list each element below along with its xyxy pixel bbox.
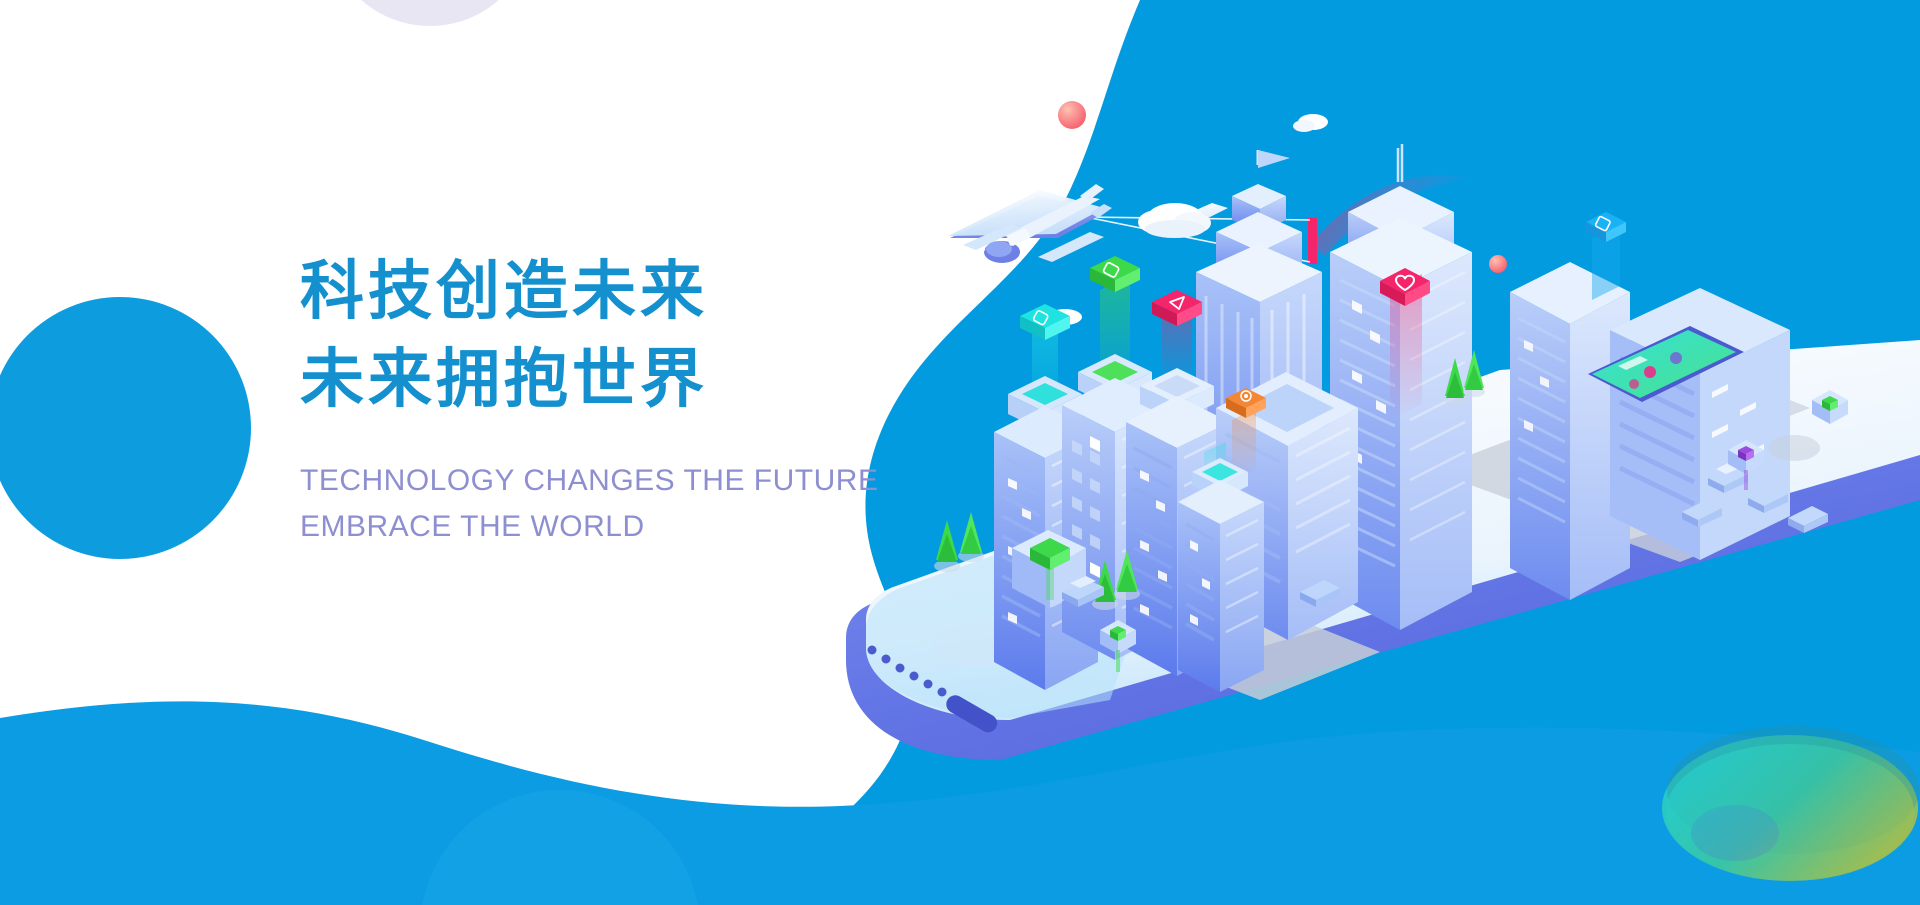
app-icon-phone-blue — [1586, 212, 1626, 300]
balloon-red-icon — [1058, 101, 1086, 129]
headline-line-2: 未来拥抱世界 — [300, 340, 920, 418]
cloud-small-icon — [1293, 114, 1328, 132]
parking-pad — [1768, 435, 1820, 461]
balloon-small-red-icon — [1489, 255, 1507, 273]
headline-line-1: 科技创造未来 — [300, 252, 920, 330]
isometric-city-illustration — [0, 0, 1920, 905]
subtitle-line-1: TECHNOLOGY CHANGES THE FUTURE — [300, 458, 920, 504]
subtitle-block: TECHNOLOGY CHANGES THE FUTURE EMBRACE TH… — [300, 458, 920, 550]
streamer-flag — [1308, 218, 1317, 264]
subtitle-line-2: EMBRACE THE WORLD — [300, 504, 920, 550]
hero-text-block: 科技创造未来 未来拥抱世界 TECHNOLOGY CHANGES THE FUT… — [300, 252, 920, 550]
hero-banner: 科技创造未来 未来拥抱世界 TECHNOLOGY CHANGES THE FUT… — [0, 0, 1920, 905]
